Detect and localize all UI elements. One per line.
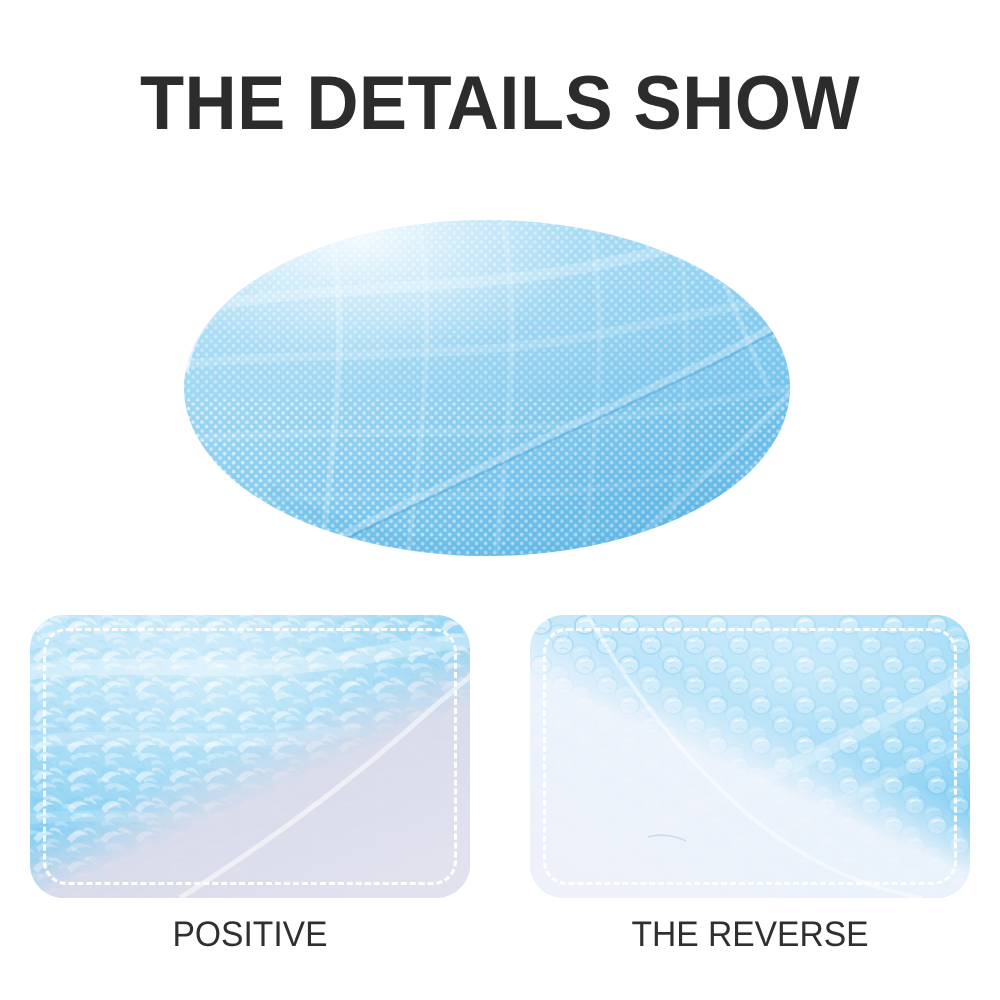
- detail-panels: [0, 615, 1000, 900]
- panel-captions: POSITIVE THE REVERSE: [0, 915, 1000, 965]
- caption-the-reverse: THE REVERSE: [539, 915, 961, 955]
- reverse-side-photo: [530, 615, 970, 898]
- caption-positive: POSITIVE: [39, 915, 461, 955]
- hero-image: [150, 190, 850, 590]
- page-title: THE DETAILS SHOW: [140, 62, 860, 146]
- title-band: THE DETAILS SHOW: [0, 62, 1000, 146]
- product-detail-page: THE DETAILS SHOW: [0, 0, 1000, 1000]
- round-cover-illustration: [150, 190, 850, 590]
- positive-side-photo: [30, 615, 470, 898]
- positive-texture-illustration: [30, 615, 470, 898]
- reverse-texture-illustration: [530, 615, 970, 898]
